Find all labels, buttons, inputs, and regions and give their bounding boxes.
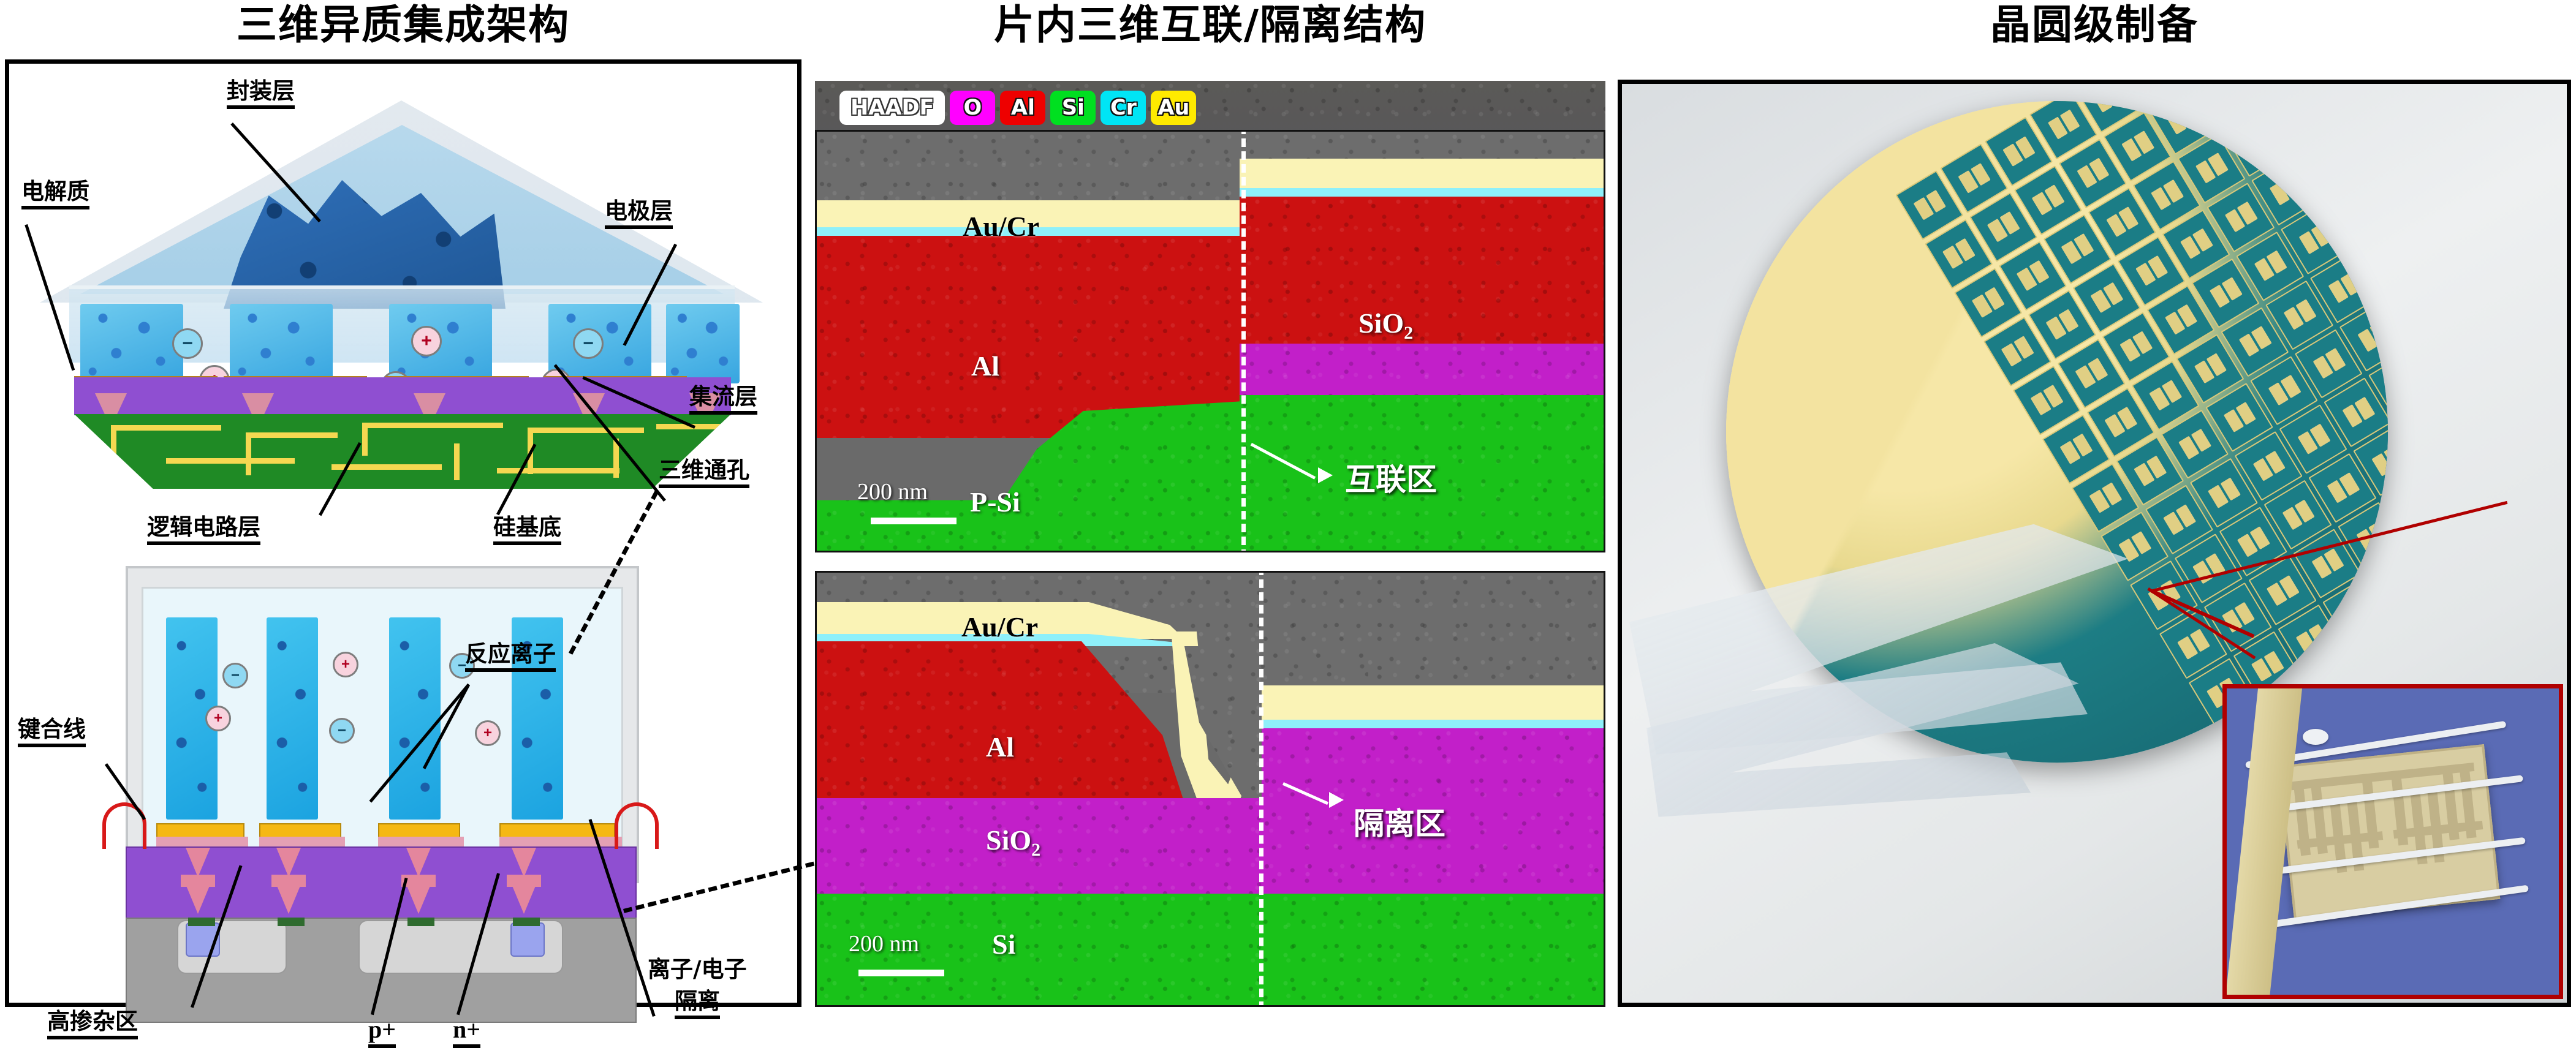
bond-ball — [2303, 729, 2328, 745]
arrow-isolation-head — [1329, 792, 1344, 808]
label-silicon-substrate: 硅基底 — [493, 516, 561, 545]
panel-architecture: − + + − − + — [5, 59, 801, 1007]
electrode-pillar — [267, 617, 318, 820]
label-au-cr-top: Au/Cr — [963, 210, 1039, 243]
via-taper — [186, 884, 210, 914]
electrode-column — [666, 304, 740, 383]
label-heavy-doping: 高掺杂区 — [47, 1010, 138, 1039]
via-taper — [406, 884, 431, 914]
isolation-purple-layer — [74, 377, 731, 415]
gate-contact — [407, 918, 434, 926]
label-al-top: Al — [971, 350, 999, 382]
p-doped-region — [510, 922, 545, 957]
scale-bar-top — [871, 518, 957, 524]
label-sio2-bottom: SiO2 — [986, 824, 1040, 861]
au-layer-right — [1240, 159, 1605, 190]
via-taper — [276, 884, 301, 914]
panel-title-left: 三维异质集成架构 — [5, 5, 801, 45]
gate-contact — [188, 918, 215, 926]
legend-chip-o[interactable]: O — [950, 91, 995, 125]
legend-chip-al[interactable]: Al — [1000, 91, 1045, 125]
gate-contact — [278, 918, 305, 926]
via-taper — [276, 848, 301, 877]
label-al-bottom: Al — [986, 731, 1014, 763]
roi-dashed-box-isolation — [1259, 571, 1605, 1007]
eds-map-interconnect: Au/Cr Al P-Si SiO2 互联区 200 nm — [815, 130, 1605, 552]
label-bond-wire: 键合线 — [18, 718, 86, 747]
legend-chip-haadf[interactable]: HAADF — [839, 91, 945, 125]
label-p-si: P-Si — [970, 486, 1020, 518]
label-ion-electron-isolation-line2: 隔离 — [675, 990, 720, 1019]
ion-negative: − — [222, 663, 248, 688]
label-encapsulation: 封装层 — [227, 80, 295, 109]
bond-wire-right — [615, 802, 659, 849]
ion-negative: − — [573, 328, 604, 359]
gate-contact — [513, 918, 540, 926]
sio2-base: SiO — [1358, 307, 1404, 339]
label-electrolyte: 电解质 — [21, 180, 89, 209]
ion-positive: + — [205, 706, 231, 731]
via-taper — [512, 884, 536, 914]
panel-title-mid: 片内三维互联/隔离结构 — [815, 5, 1605, 45]
legend-chip-au[interactable]: Au — [1151, 91, 1196, 125]
via-taper — [406, 848, 431, 877]
scale-bar-bottom — [858, 970, 944, 976]
via-taper — [512, 848, 536, 877]
eds-map-isolation: Au/Cr Al SiO2 Si 隔离区 200 nm — [815, 571, 1605, 1007]
sio2-subscript: 2 — [1404, 323, 1413, 343]
logic-circuit-layer — [74, 414, 731, 489]
panel-title-right: 晶圆级制备 — [1618, 5, 2571, 45]
label-p-plus: p+ — [368, 1017, 396, 1048]
device-inset — [2222, 684, 2563, 999]
label-logic-layer: 逻辑电路层 — [147, 516, 260, 545]
sio2-subscript-bottom: 2 — [1031, 840, 1040, 860]
ion-negative: − — [172, 328, 203, 359]
3d-stack-illustration: − + + − − + — [21, 88, 792, 492]
sio2-layer-right — [1240, 344, 1605, 396]
legend-chip-cr[interactable]: Cr — [1100, 91, 1146, 125]
label-electrode: 电极层 — [605, 200, 673, 229]
electrode-column — [230, 304, 333, 383]
al-layer-right — [1240, 197, 1605, 345]
panel-wafer-fabrication — [1618, 80, 2571, 1007]
ion-positive: + — [475, 720, 501, 746]
legend-chip-si[interactable]: Si — [1050, 91, 1096, 125]
label-sio2-top: SiO2 — [1358, 307, 1413, 344]
sio2-base-bottom: SiO — [986, 824, 1031, 856]
via-taper — [186, 848, 210, 877]
scale-text-bottom: 200 nm — [849, 930, 919, 957]
label-reactive-ion: 反应离子 — [465, 643, 556, 672]
panel-eds-maps: HAADF O Al Si Cr Au Au/Cr — [815, 81, 1605, 1007]
element-legend: HAADF O Al Si Cr Au — [839, 91, 1196, 125]
label-isolation-region: 隔离区 — [1354, 799, 1445, 843]
ion-negative: − — [329, 718, 355, 744]
electrode-pillar — [389, 617, 441, 820]
figure-root: 三维异质集成架构 片内三维互联/隔离结构 晶圆级制备 − + + − − + — [0, 0, 2576, 1012]
label-si-bottom: Si — [992, 928, 1015, 960]
label-interconnect-region: 互联区 — [1345, 455, 1437, 499]
electrode-column — [80, 304, 183, 383]
ion-positive: + — [333, 652, 358, 677]
arrow-interconnect-head — [1318, 467, 1333, 483]
ion-positive: + — [411, 326, 442, 356]
scale-text-top: 200 nm — [857, 478, 928, 505]
label-n-plus: n+ — [453, 1017, 480, 1048]
label-ion-electron-isolation-line1: 离子/电子 — [648, 958, 747, 984]
label-au-cr-bottom: Au/Cr — [961, 611, 1038, 643]
label-current-collector: 集流层 — [689, 385, 757, 415]
label-tsv: 三维通孔 — [659, 459, 749, 488]
